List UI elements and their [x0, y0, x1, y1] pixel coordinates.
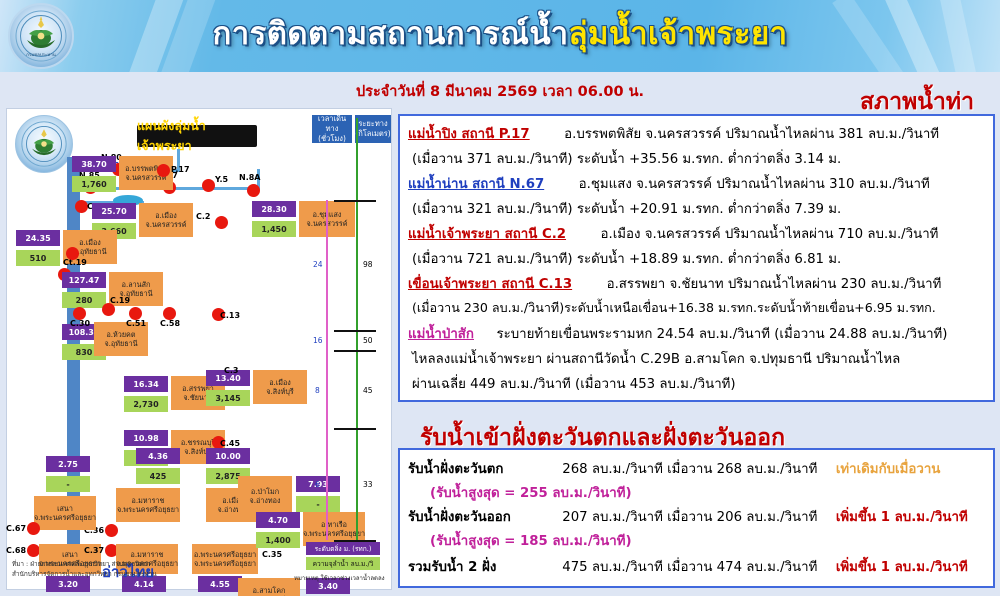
channel [177, 149, 180, 172]
bank-row: รวมรับน้ำ 2 ฝั่ง 475 ลบ.ม./วินาที เมื่อว… [408, 556, 968, 577]
station-name: เขื่อนเจ้าพระยา สถานี C.13 [408, 277, 572, 292]
river-row: แม่น้ำน่าน สถานี N.67 อ.ชุมแสง จ.นครสวรร… [408, 173, 930, 194]
river-row: แม่น้ำเจ้าพระยา สถานี C.2 อ.เมือง จ.นครส… [408, 223, 938, 244]
bank-label: รวมรับน้ำ 2 ฝั่ง [408, 556, 558, 577]
diagram-title: แผนผังลุ่มน้ำเจ้าพระยา [137, 125, 257, 147]
page-title: การติดตามสถานการณ์น้ำลุ่มน้ำเจ้าพระยา [0, 8, 1000, 58]
page-title-highlight: ลุ่มน้ำเจ้าพระยา [569, 16, 788, 52]
bank-max: (รับน้ำสูงสุด = 255 ลบ.ม./วินาที) [430, 482, 632, 503]
bank-level-box-n67: 28.30 [252, 201, 296, 217]
station-dot-n80[interactable] [112, 163, 125, 176]
station-label-n67: N.67 [157, 171, 178, 180]
river-subrow: (เมื่อวาน 321 ลบ.ม./วินาที) ระดับน้ำ +20… [412, 198, 841, 219]
bank-max: (รับน้ำสูงสุด = 185 ลบ.ม./วินาที) [430, 530, 632, 551]
station-detail: อ.บรรพตพิสัย จ.นครสวรรค์ ปริมาณน้ำไหลผ่า… [564, 127, 939, 142]
page-header: กรมชลประทาน การติดตามสถานการณ์น้ำลุ่มน้ำ… [0, 0, 1000, 72]
station-label-n85: N.85 [79, 171, 100, 180]
bank-value: 268 ลบ.ม./วินาที เมื่อวาน 268 ลบ.ม./วินา… [562, 462, 817, 477]
bank-delta: เพิ่มขึ้น 1 ลบ.ม./วินาที [836, 560, 968, 575]
river-subrow: ไหลลงแม่น้ำเจ้าพระยา ผ่านสถานีวัดน้ำ C.2… [412, 348, 900, 369]
bank-label: รับน้ำฝั่งตะวันตก [408, 458, 558, 479]
capacity-box-n67: 1,450 [252, 221, 296, 237]
station-dot-n85[interactable] [84, 181, 97, 194]
river-row: เขื่อนเจ้าพระยา สถานี C.13 อ.สรรพยา จ.ชั… [408, 273, 941, 294]
river-row: แม่น้ำปิง สถานี P.17 อ.บรรพตพิสัย จ.นครส… [408, 123, 939, 144]
station-dot-y5[interactable] [202, 179, 215, 192]
river-subrow2: ผ่านเฉลี่ย 449 ลบ.ม./วินาที (เมื่อวาน 45… [412, 373, 736, 394]
bank-value: 207 ลบ.ม./วินาที เมื่อวาน 206 ลบ.ม./วินา… [562, 510, 817, 525]
bank-row: รับน้ำฝั่งตะวันตก 268 ลบ.ม./วินาที เมื่อ… [408, 458, 940, 479]
banks-intake-panel: รับน้ำฝั่งตะวันตก 268 ลบ.ม./วินาที เมื่อ… [398, 448, 995, 588]
reservoir-shape [113, 195, 143, 206]
bank-label: รับน้ำฝั่งตะวันออก [408, 506, 558, 527]
station-detail: อ.เมือง จ.นครสวรรค์ ปริมาณน้ำไหลผ่าน 710… [601, 227, 939, 242]
main-river-chaophraya [67, 157, 80, 561]
col-header-distance: ระยะทาง (กิโลเมตร) [355, 115, 391, 143]
rid-logo-small [15, 115, 73, 173]
station-label-n8a: N.8A [239, 173, 261, 182]
date-line: ประจำวันที่ 8 มีนาคม 2569 เวลา 06.00 น. [0, 80, 1000, 103]
page-title-main: การติดตามสถานการณ์น้ำ [212, 16, 568, 52]
station-dot-n67[interactable] [163, 181, 176, 194]
basin-schematic-panel: แผนผังลุ่มน้ำเจ้าพระยา เวลาเดินทาง (ชั่ว… [6, 108, 392, 590]
bank-delta: เพิ่มขึ้น 1 ลบ.ม./วินาที [836, 510, 968, 525]
station-name: แม่น้ำป่าสัก [408, 327, 474, 342]
river-subrow: (เมื่อวาน 371 ลบ.ม./วินาที) ระดับน้ำ +35… [412, 148, 841, 169]
station-name: แม่น้ำเจ้าพระยา สถานี C.2 [408, 227, 566, 242]
bank-row: รับน้ำฝั่งตะวันออก 207 ลบ.ม./วินาที เมื่… [408, 506, 968, 527]
bank-delta: เท่าเดิมกับเมื่อวาน [836, 462, 941, 477]
station-label-c64: C.64 [87, 202, 107, 211]
river-row: แม่น้ำป่าสัก ระบายท้ายเขื่อนพระรามหก 24.… [408, 323, 948, 344]
station-dot-n8a[interactable] [247, 184, 260, 197]
station-detail: ระบายท้ายเขื่อนพระรามหก 24.54 ลบ.ม./วินา… [496, 327, 947, 342]
place-box-n67: อ.ชุมแสง จ.นครสวรรค์ [299, 201, 355, 237]
station-detail: อ.สรรพยา จ.ชัยนาท ปริมาณน้ำไหลผ่าน 230 ล… [607, 277, 942, 292]
station-detail: อ.ชุมแสง จ.นครสวรรค์ ปริมาณน้ำไหลผ่าน 31… [579, 177, 930, 192]
station-label-y5: Y.5 [215, 175, 228, 184]
col-header-travel-time: เวลาเดินทาง (ชั่วโมง) [312, 115, 352, 143]
bank-value: 475 ลบ.ม./วินาที เมื่อวาน 474 ลบ.ม./วินา… [562, 560, 817, 575]
station-name: แม่น้ำน่าน สถานี N.67 [408, 177, 544, 192]
river-conditions-panel: แม่น้ำปิง สถานี P.17 อ.บรรพตพิสัย จ.นครส… [398, 114, 995, 402]
river-subrow: (เมื่อวาน 721 ลบ.ม./วินาที) ระดับน้ำ +18… [412, 248, 841, 269]
station-label-n80: N.80 [101, 153, 122, 162]
station-name: แม่น้ำปิง สถานี P.17 [408, 127, 530, 142]
river-subrow: (เมื่อวาน 230 ลบ.ม./วินาที)ระดับน้ำเหนือ… [412, 298, 936, 318]
